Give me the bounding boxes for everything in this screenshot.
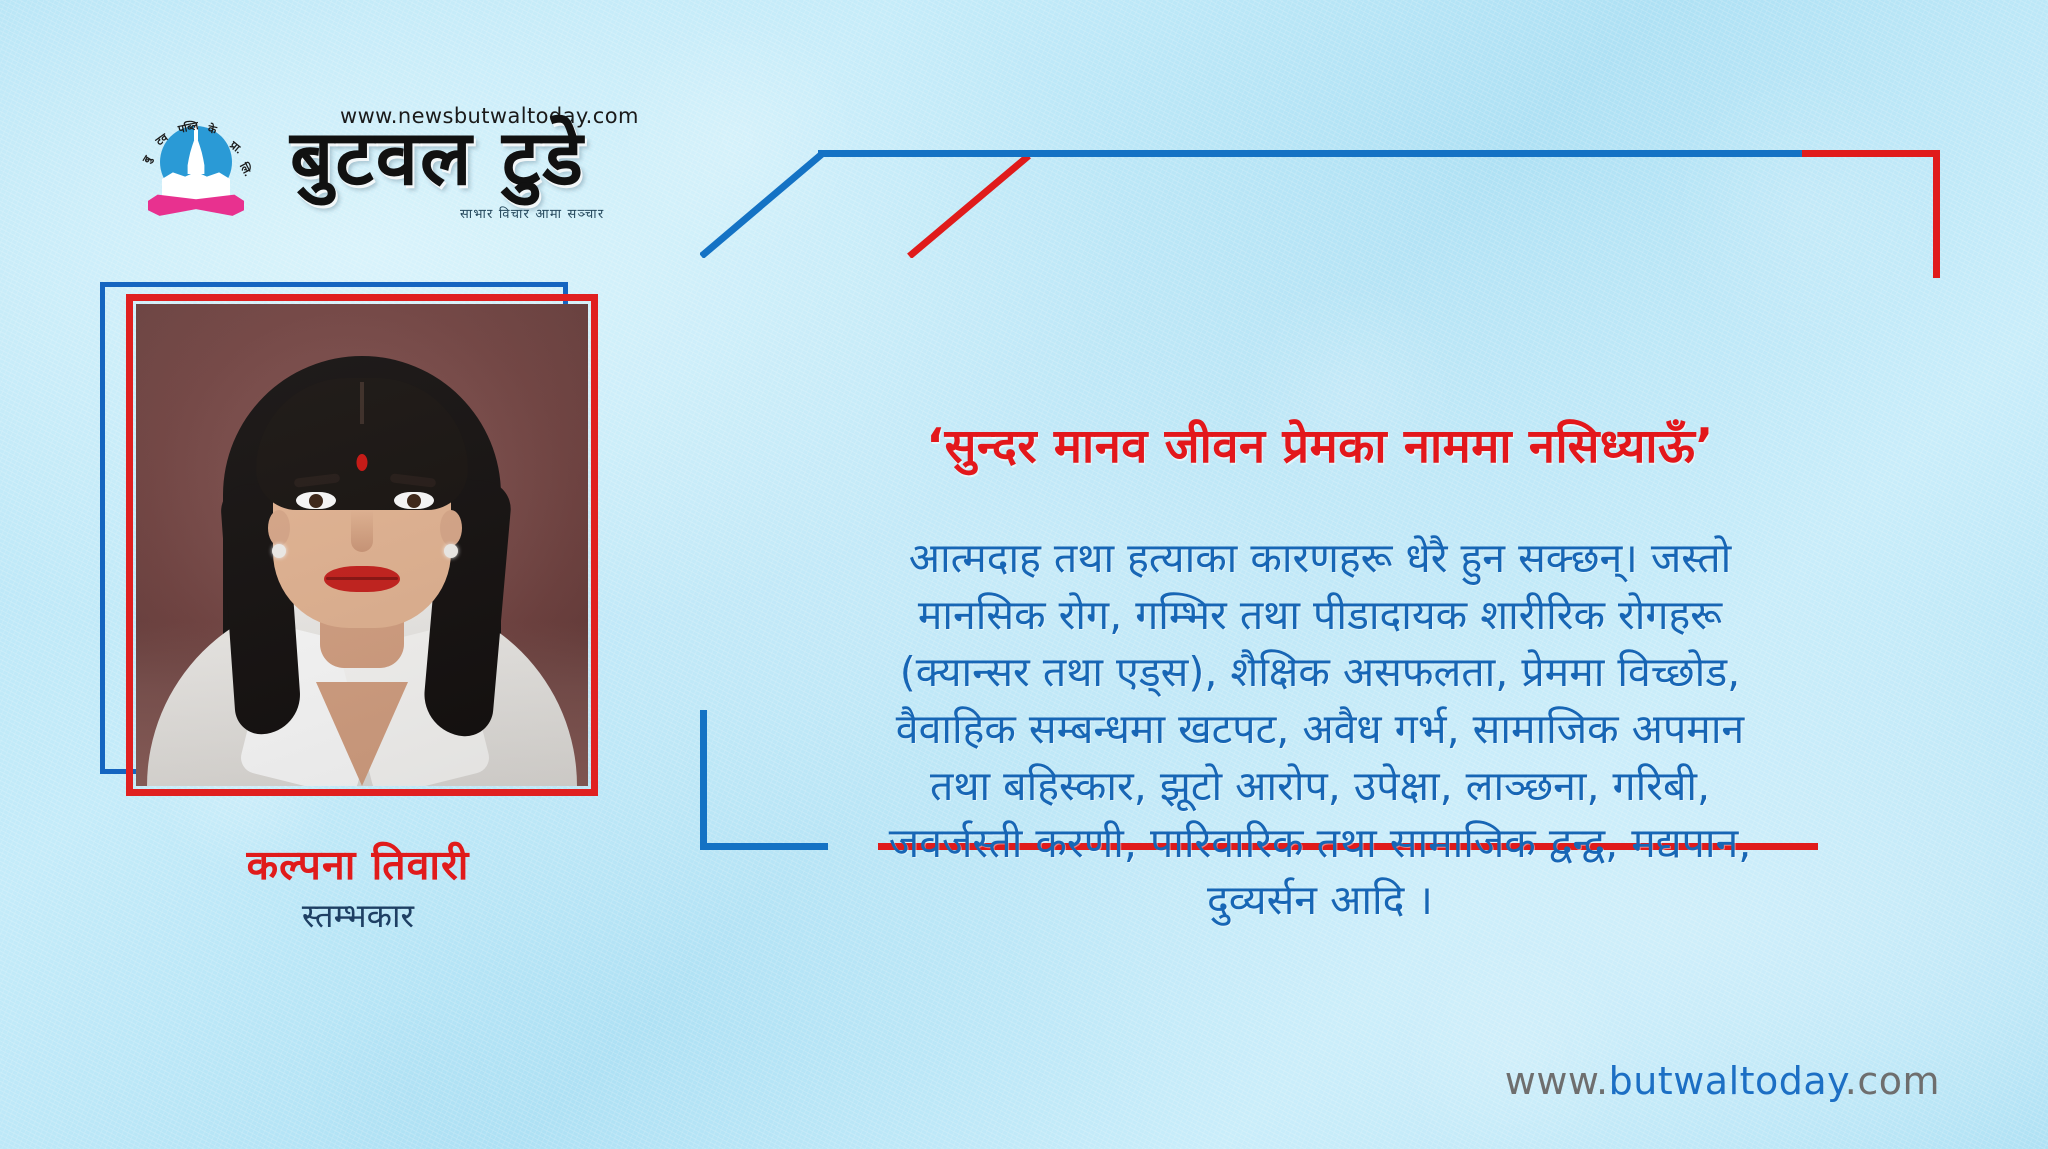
footer-url-prefix: www. [1505, 1059, 1609, 1103]
emblem-arc-text-2: टव [153, 130, 171, 149]
body-line: (क्यान्सर तथा एड्स), शैक्षिक असफलता, प्र… [690, 644, 1950, 701]
footer-url-suffix: .com [1845, 1059, 1940, 1103]
emblem-arc-text-3: पब्लि [177, 118, 200, 137]
body-line: दुव्यर्सन आदि । [690, 872, 1950, 929]
body-line: तथा बहिस्कार, झूटो आरोप, उपेक्षा, लाञ्छन… [690, 758, 1950, 815]
site-logo[interactable]: बु टव पब्लि के प्रा. लि. www.newsbutwalt… [140, 104, 610, 224]
logo-wordmark: बुटवल टुडे [290, 120, 585, 196]
body-line: वैवाहिक सम्बन्धमा खटपट, अवैध गर्भ, सामाज… [690, 701, 1950, 758]
emblem-arc-text-1: बु [139, 153, 155, 166]
emblem-arc-text-5: प्रा. [227, 138, 246, 157]
emblem-arc-text-6: लि. [236, 160, 256, 179]
body-line: जवर्जस्ती करणी, पारिवारिक तथा सामाजिक द्… [690, 815, 1950, 872]
footer-url-name: butwaltoday [1609, 1059, 1845, 1103]
stupa-emblem-icon: बु टव पब्लि के प्रा. लि. [140, 112, 252, 220]
logo-tagline: साभार विचार आमा सञ्चार [460, 204, 604, 222]
portrait-photo [136, 304, 588, 786]
body-line: मानसिक रोग, गम्भिर तथा पीडादायक शारीरिक … [690, 587, 1950, 644]
body-line: आत्मदाह तथा हत्याका कारणहरू धेरै हुन सक्… [690, 530, 1950, 587]
footer-website-url[interactable]: www.butwaltoday.com [1505, 1059, 1940, 1103]
article-headline: ‘सुन्दर मानव जीवन प्रेमका नाममा नसिध्याऊ… [700, 412, 1940, 476]
article-body: आत्मदाह तथा हत्याका कारणहरू धेरै हुन सक्… [690, 530, 1950, 929]
emblem-arc-text-4: के [206, 121, 218, 138]
portrait-block [100, 282, 616, 812]
author-name: कल्पना तिवारी [100, 836, 616, 892]
author-role: स्तम्भकार [100, 892, 616, 937]
